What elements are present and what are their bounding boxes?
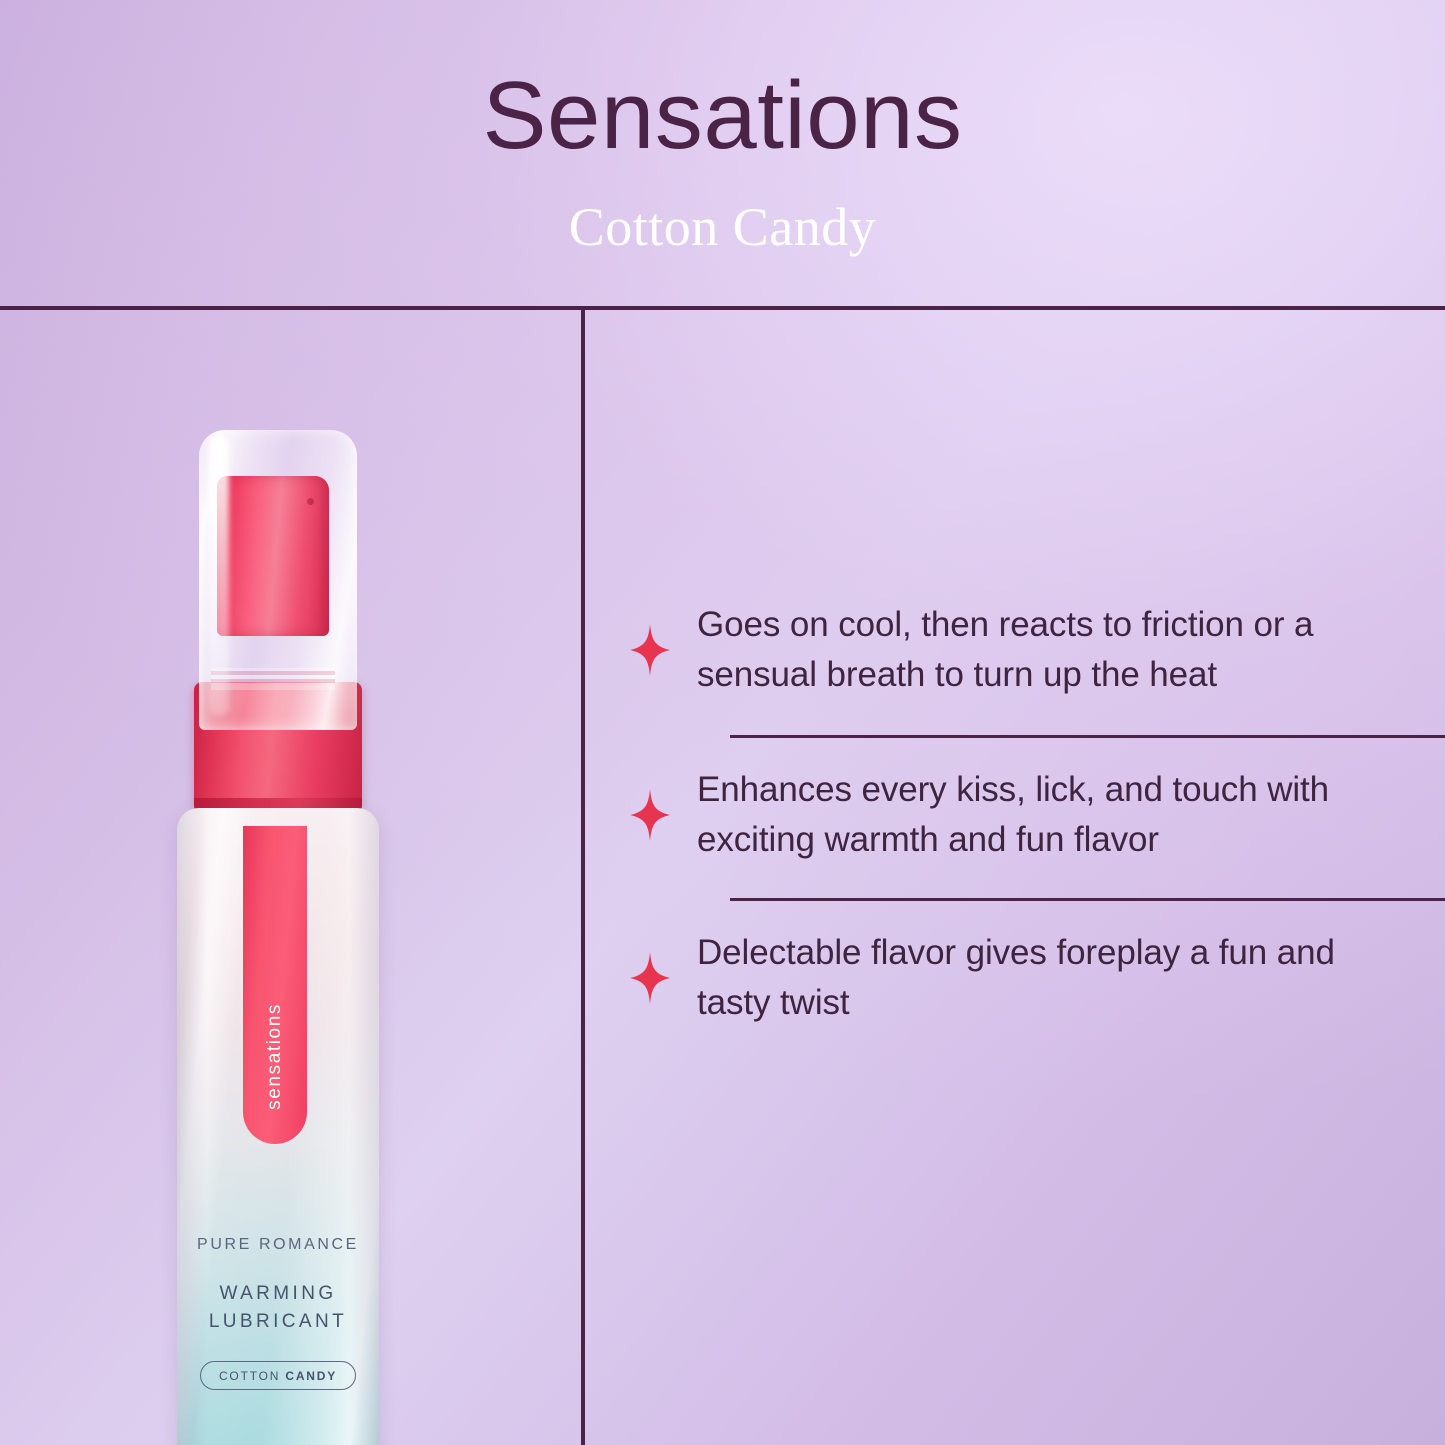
bottle-pump-rings bbox=[211, 668, 335, 690]
page-subtitle: Cotton Candy bbox=[0, 200, 1445, 254]
label-product-type: WARMING LUBRICANT bbox=[177, 1280, 379, 1335]
overcap-highlight bbox=[209, 436, 229, 716]
label-flavor-badge: COTTON CANDY bbox=[200, 1361, 356, 1390]
benefit-item: Enhances every kiss, lick, and touch wit… bbox=[585, 765, 1445, 864]
benefit-text: Delectable flavor gives foreplay a fun a… bbox=[697, 928, 1397, 1027]
benefit-text: Enhances every kiss, lick, and touch wit… bbox=[697, 765, 1397, 864]
bottle-label: PURE ROMANCE WARMING LUBRICANT COTTON CA… bbox=[177, 1236, 379, 1445]
product-image-panel: sensations PURE ROMANCE WARMING LUBRICAN… bbox=[0, 310, 581, 1445]
pump-nozzle-icon bbox=[307, 498, 314, 505]
stripe-label: sensations bbox=[264, 1003, 286, 1110]
benefit-separator bbox=[730, 735, 1445, 738]
flavor-emphasis: CANDY bbox=[285, 1369, 337, 1383]
benefit-text: Goes on cool, then reacts to friction or… bbox=[697, 600, 1397, 699]
benefit-separator bbox=[730, 898, 1445, 901]
sparkle-icon bbox=[627, 952, 673, 1004]
page-title: Sensations bbox=[0, 68, 1445, 164]
bottle-brand-stripe-text: sensations bbox=[243, 826, 307, 1144]
sparkle-icon bbox=[627, 789, 673, 841]
header: Sensations Cotton Candy bbox=[0, 0, 1445, 308]
label-type-line-2: LUBRICANT bbox=[177, 1308, 379, 1336]
flavor-prefix: COTTON bbox=[219, 1369, 285, 1383]
label-flavor-badge-wrap: COTTON CANDY bbox=[177, 1361, 379, 1390]
product-bottle: sensations PURE ROMANCE WARMING LUBRICAN… bbox=[155, 430, 405, 1445]
label-brand: PURE ROMANCE bbox=[177, 1236, 379, 1254]
benefit-item: Goes on cool, then reacts to friction or… bbox=[585, 600, 1445, 699]
sparkle-icon bbox=[627, 624, 673, 676]
benefit-item: Delectable flavor gives foreplay a fun a… bbox=[585, 928, 1445, 1027]
label-type-line-1: WARMING bbox=[177, 1280, 379, 1308]
product-marketing-card: Sensations Cotton Candy sensations PURE … bbox=[0, 0, 1445, 1445]
benefits-panel: Goes on cool, then reacts to friction or… bbox=[585, 310, 1445, 1445]
